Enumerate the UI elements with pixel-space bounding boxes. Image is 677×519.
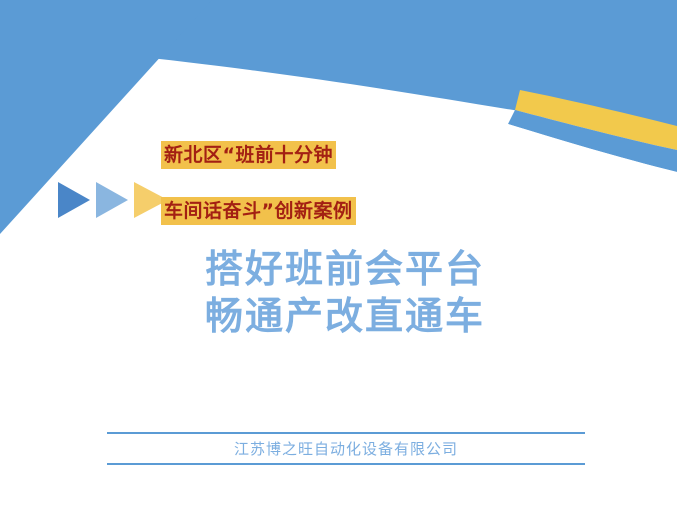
title-line-1: 搭好班前会平台 <box>205 246 485 293</box>
footer-rule-bottom <box>107 463 585 465</box>
page-title: 搭好班前会平台 畅通产改直通车 <box>205 246 485 340</box>
subtitle-line-1: 新北区“班前十分钟 <box>161 141 336 169</box>
title-line-2: 畅通产改直通车 <box>205 293 485 340</box>
triangle-arrow-icon-1 <box>58 182 90 218</box>
subtitle-spacer <box>161 169 581 197</box>
triangle-arrow-icon-2 <box>96 182 128 218</box>
footer: 江苏博之旺自动化设备有限公司 <box>107 432 585 465</box>
presentation-slide: 新北区“班前十分钟 车间话奋斗”创新案例 搭好班前会平台 畅通产改直通车 江苏博… <box>0 0 677 519</box>
subtitle-line-1-wrapper: 新北区“班前十分钟 <box>161 141 581 169</box>
arrow-group <box>58 180 168 220</box>
subtitle-line-2: 车间话奋斗”创新案例 <box>161 197 356 225</box>
footer-company-name: 江苏博之旺自动化设备有限公司 <box>107 434 585 463</box>
subtitle-block: 新北区“班前十分钟 车间话奋斗”创新案例 <box>161 141 581 225</box>
subtitle-line-2-wrapper: 车间话奋斗”创新案例 <box>161 197 581 225</box>
